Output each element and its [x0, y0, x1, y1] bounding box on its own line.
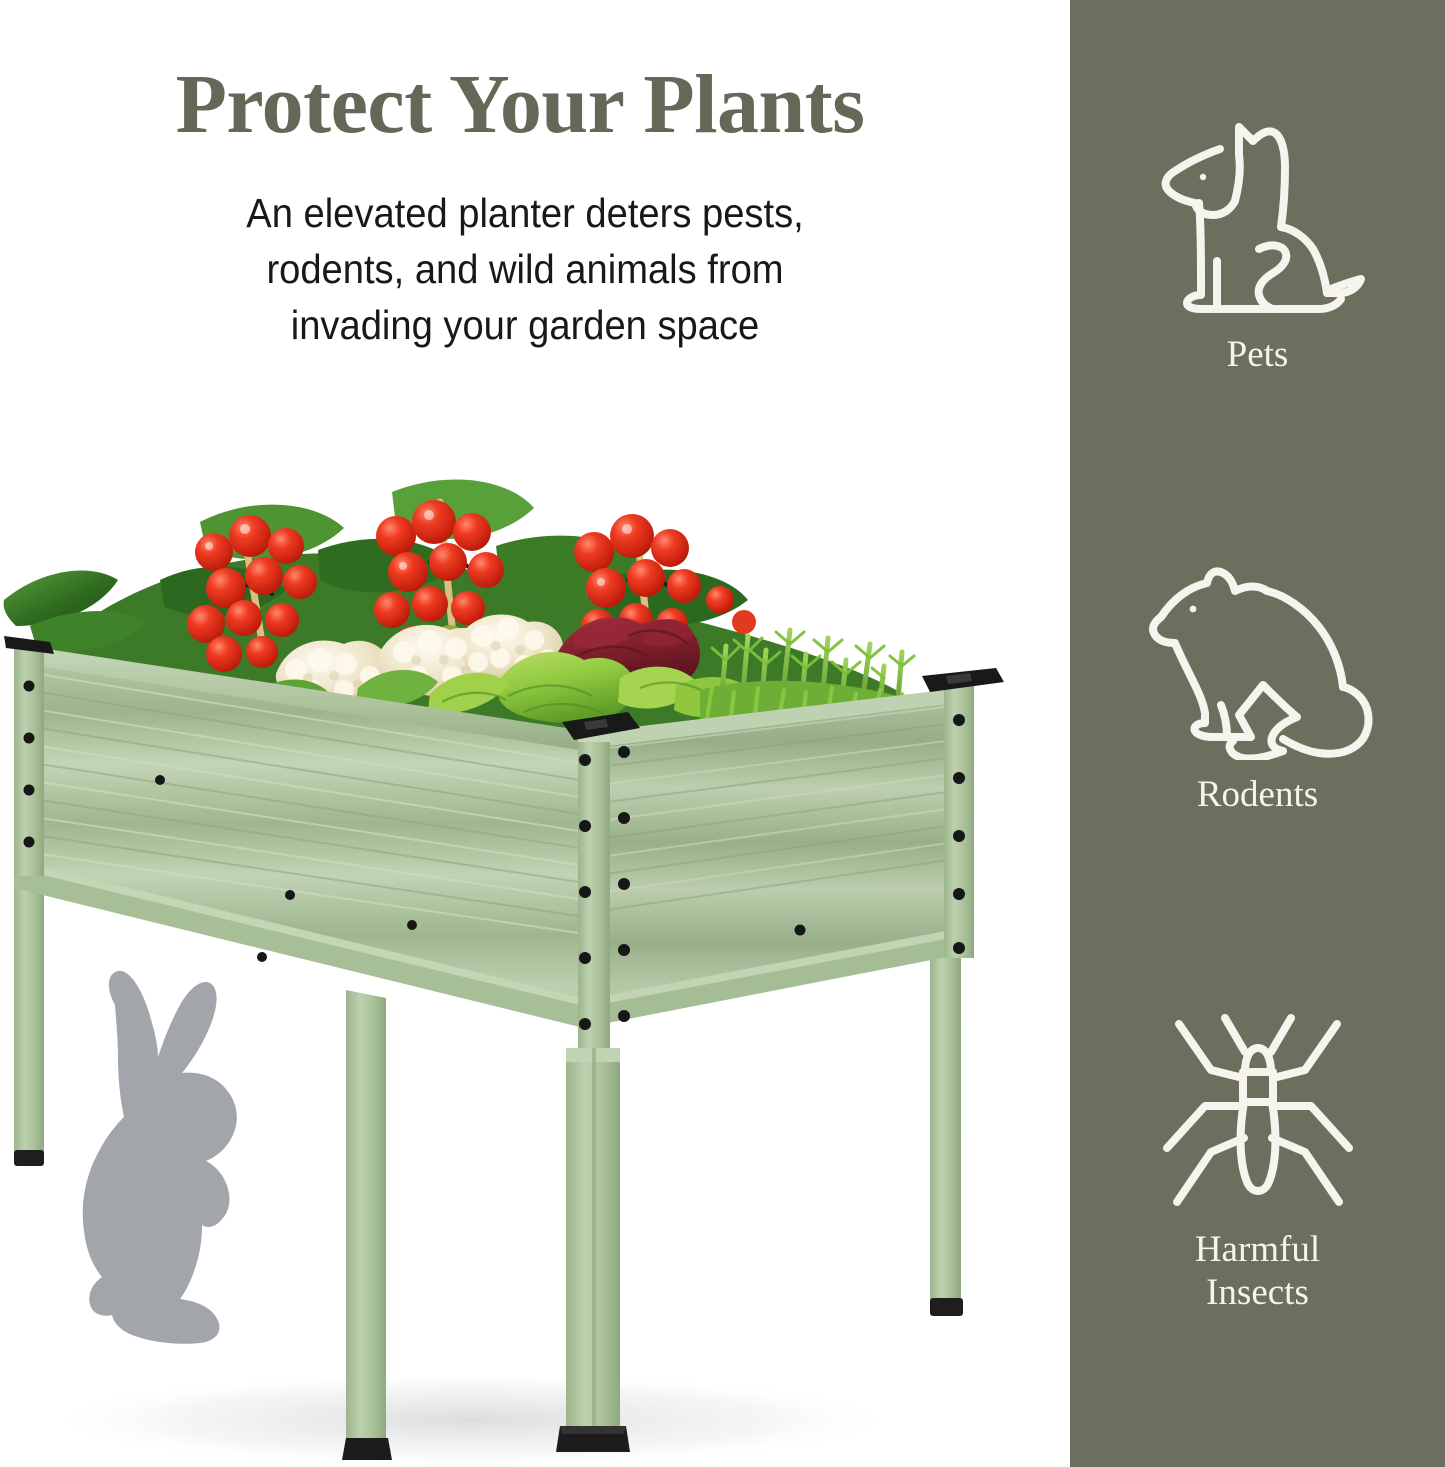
ground-shadow: [40, 1372, 900, 1467]
subtitle-line-3: invading your garden space: [130, 297, 921, 353]
sidebar-item-insects-label-line2: Insects: [1195, 1272, 1320, 1315]
sidebar-item-insects: Harmful Insects: [1070, 1010, 1445, 1315]
dog-icon: [1143, 115, 1373, 320]
sidebar-item-pets: Pets: [1070, 115, 1445, 377]
sidebar-item-rodents-label: Rodents: [1197, 774, 1318, 817]
rabbit-silhouette-icon: [60, 965, 290, 1355]
marketing-image-canvas: Protect Your Plants An elevated planter …: [0, 0, 1445, 1467]
insect-icon: [1153, 1010, 1363, 1215]
subtitle-line-2: rodents, and wild animals from: [130, 241, 921, 297]
subtitle-line-1: An elevated planter deters pests,: [130, 185, 921, 241]
rodent-icon: [1135, 565, 1380, 760]
benefits-sidebar: Pets Rodents: [1070, 0, 1445, 1467]
rabbit-silhouette-graphic: [60, 965, 290, 1360]
sidebar-item-pets-label: Pets: [1227, 334, 1289, 377]
page-title: Protect Your Plants: [0, 62, 1040, 148]
bed-side-panel: [592, 688, 962, 1026]
right-edge-post: [944, 686, 974, 958]
copy-column: Protect Your Plants An elevated planter …: [0, 0, 1070, 1467]
sidebar-item-rodents: Rodents: [1070, 565, 1445, 817]
sidebar-item-insects-label-line1: Harmful: [1195, 1229, 1320, 1272]
sidebar-item-insects-label: Harmful Insects: [1195, 1229, 1320, 1315]
subtitle-block: An elevated planter deters pests, rodent…: [130, 185, 921, 353]
